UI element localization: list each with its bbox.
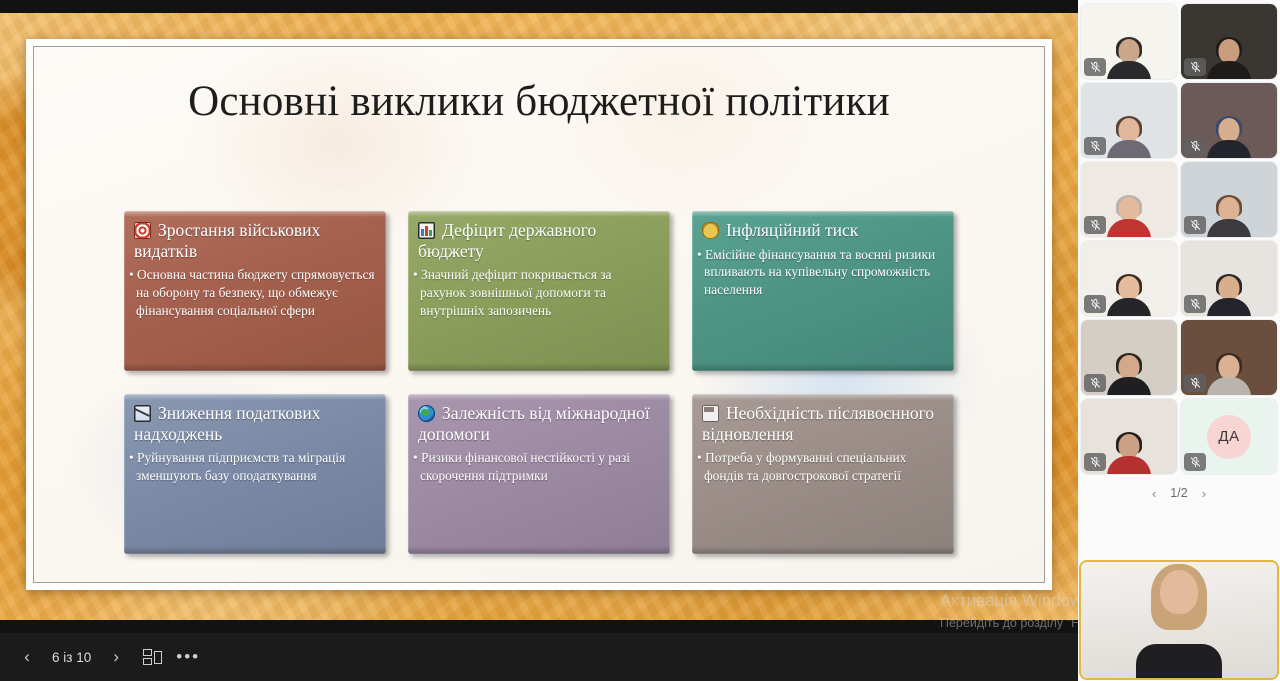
card-postwar-recovery[interactable]: Необхідність післявоєнного відновлення •… [692,394,954,554]
participant-figure [1206,197,1252,237]
card-heading: Необхідність післявоєнного відновлення [702,403,943,444]
participant-tile[interactable] [1081,162,1177,237]
card-budget-deficit[interactable]: Дефіцит державного бюджету • Значний деф… [408,211,670,371]
microphone-muted-icon [1184,58,1206,76]
slide-canvas: Основні виклики бюджетної політики Зрост… [33,46,1045,583]
microphone-muted-icon [1184,137,1206,155]
active-speaker-tile[interactable] [1081,562,1277,678]
slide-toolbar: ‹ 6 із 10 › ••• [0,633,1078,681]
money-bag-icon [702,222,719,239]
participants-pager: ‹ 1/2 › [1078,478,1280,508]
card-heading: Залежність від міжнародної допомоги [418,403,659,444]
presentation-screen: Основні виклики бюджетної політики Зрост… [0,0,1280,681]
card-heading: Зростання військових видатків [134,220,375,261]
participant-tile[interactable] [1181,162,1277,237]
card-inflation-pressure[interactable]: Інфляційний тиск • Емісійне фінансування… [692,211,954,371]
microphone-muted-icon [1184,453,1206,471]
card-body: • Руйнування підприємств та міграція зме… [134,449,375,484]
bar-chart-icon [418,222,435,239]
card-international-aid-dependence[interactable]: Залежність від міжнародної допомоги • Ри… [408,394,670,554]
participant-tile[interactable] [1181,4,1277,79]
microphone-muted-icon [1084,216,1106,234]
participant-figure [1106,355,1152,395]
participants-panel: ДА ‹ 1/2 › [1078,0,1280,681]
participant-figure [1106,434,1152,474]
participant-tile[interactable] [1181,83,1277,158]
previous-slide-button[interactable]: ‹ [10,640,44,674]
participant-tile[interactable] [1081,241,1177,316]
participant-tile[interactable]: ДА [1181,399,1277,474]
target-icon [134,222,151,239]
participant-tile[interactable] [1181,320,1277,395]
card-body: • Значний дефіцит покривається за рахуно… [418,266,659,319]
next-slide-button[interactable]: › [99,640,133,674]
slide-background: Основні виклики бюджетної політики Зрост… [0,13,1078,620]
participant-grid: ДА [1078,0,1280,474]
microphone-muted-icon [1084,374,1106,392]
card-body: • Ризики фінансової нестійкості у разі с… [418,449,659,484]
pager-prev-button[interactable]: ‹ [1152,486,1156,501]
slide-stage[interactable]: Основні виклики бюджетної політики Зрост… [0,0,1078,633]
participant-figure [1106,276,1152,316]
microphone-muted-icon [1084,295,1106,313]
card-body: • Потреба у формуванні спеціальних фонді… [702,449,943,484]
microphone-muted-icon [1084,453,1106,471]
participant-tile[interactable] [1081,83,1177,158]
card-heading: Дефіцит державного бюджету [418,220,659,261]
avatar: ДА [1207,415,1251,459]
participant-figure [1106,118,1152,158]
participant-figure [1206,39,1252,79]
microphone-muted-icon [1184,295,1206,313]
participant-figure [1206,276,1252,316]
card-heading: Інфляційний тиск [702,220,943,241]
construction-icon [702,405,719,422]
challenge-card-grid: Зростання військових видатків • Основна … [124,211,970,554]
participant-tile[interactable] [1081,4,1177,79]
participant-figure [1106,39,1152,79]
slide-title: Основні виклики бюджетної політики [34,47,1044,128]
participant-tile[interactable] [1181,241,1277,316]
microphone-muted-icon [1184,374,1206,392]
card-heading: Зниження податкових надходжень [134,403,375,444]
participant-tile[interactable] [1081,320,1177,395]
participant-figure [1106,197,1152,237]
microphone-muted-icon [1184,216,1206,234]
globe-icon [418,405,435,422]
declining-chart-icon [134,405,151,422]
participant-figure [1206,355,1252,395]
grid-layout-icon [143,649,162,666]
pager-value: 1/2 [1170,486,1187,500]
participant-tile[interactable] [1081,399,1177,474]
slide-frame: Основні виклики бюджетної політики Зрост… [26,39,1052,590]
pager-next-button[interactable]: › [1202,486,1206,501]
slide-counter: 6 із 10 [46,650,97,665]
participant-figure [1206,118,1252,158]
layout-view-button[interactable] [135,640,169,674]
card-tax-revenue-decline[interactable]: Зниження податкових надходжень • Руйнува… [124,394,386,554]
microphone-muted-icon [1084,58,1106,76]
card-body: • Емісійне фінансування та воєнні ризики… [702,246,943,299]
card-body: • Основна частина бюджету спрямовується … [134,266,375,319]
microphone-muted-icon [1084,137,1106,155]
card-military-spending[interactable]: Зростання військових видатків • Основна … [124,211,386,371]
more-options-button[interactable]: ••• [171,640,205,674]
